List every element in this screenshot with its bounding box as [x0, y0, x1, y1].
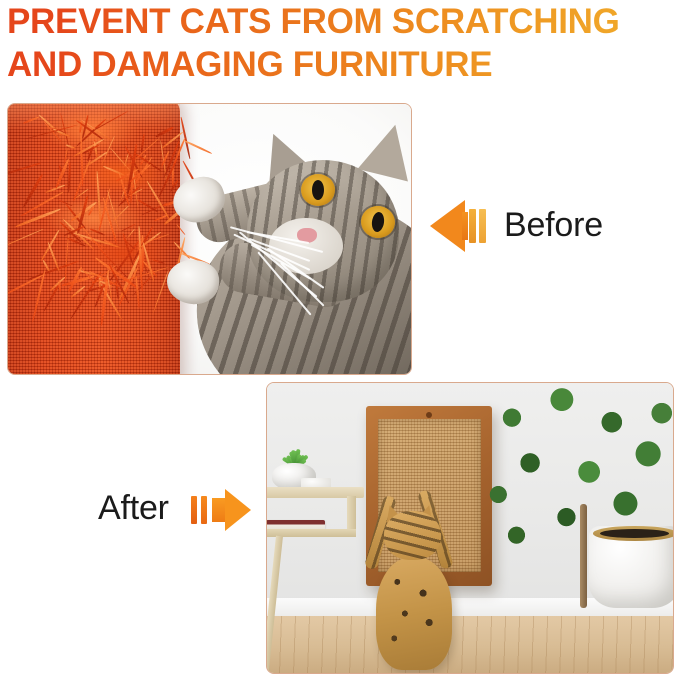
page-title-line-1: PREVENT CATS FROM SCRATCHING	[7, 0, 679, 43]
before-arrow-icon	[430, 200, 488, 252]
arrow-bar-2	[201, 496, 207, 524]
before-photo-scene	[8, 104, 411, 374]
before-label: Before	[504, 208, 603, 242]
bengal-cat	[369, 505, 466, 667]
arrow-bar-1	[469, 209, 476, 243]
arrow-bar-1	[191, 496, 197, 524]
arrow-head-right	[225, 489, 251, 531]
arrow-bar-2	[479, 209, 486, 243]
before-photo	[7, 103, 412, 375]
after-arrow-icon	[189, 489, 251, 531]
arrow-head-left	[430, 200, 465, 252]
arrow-shaft	[462, 212, 468, 240]
tabby-cat	[121, 122, 411, 374]
after-label: After	[98, 491, 169, 525]
ficus-tree	[462, 383, 673, 603]
cat-head	[384, 511, 441, 560]
after-photo-scene	[267, 383, 673, 673]
after-photo	[266, 382, 674, 674]
mounting-screw	[426, 412, 432, 418]
cat-body	[376, 557, 452, 671]
frayed-thread	[64, 232, 69, 286]
side-table	[267, 487, 364, 545]
cat-eye-left	[301, 174, 335, 206]
page-title-line-2: AND DAMAGING FURNITURE	[7, 43, 679, 86]
tree-planter-pot	[589, 526, 673, 607]
table-side-panel	[347, 496, 356, 532]
frayed-thread	[68, 162, 71, 193]
frayed-thread	[90, 228, 105, 236]
page-title: PREVENT CATS FROM SCRATCHING AND DAMAGIN…	[7, 0, 679, 86]
frayed-thread	[96, 171, 101, 225]
